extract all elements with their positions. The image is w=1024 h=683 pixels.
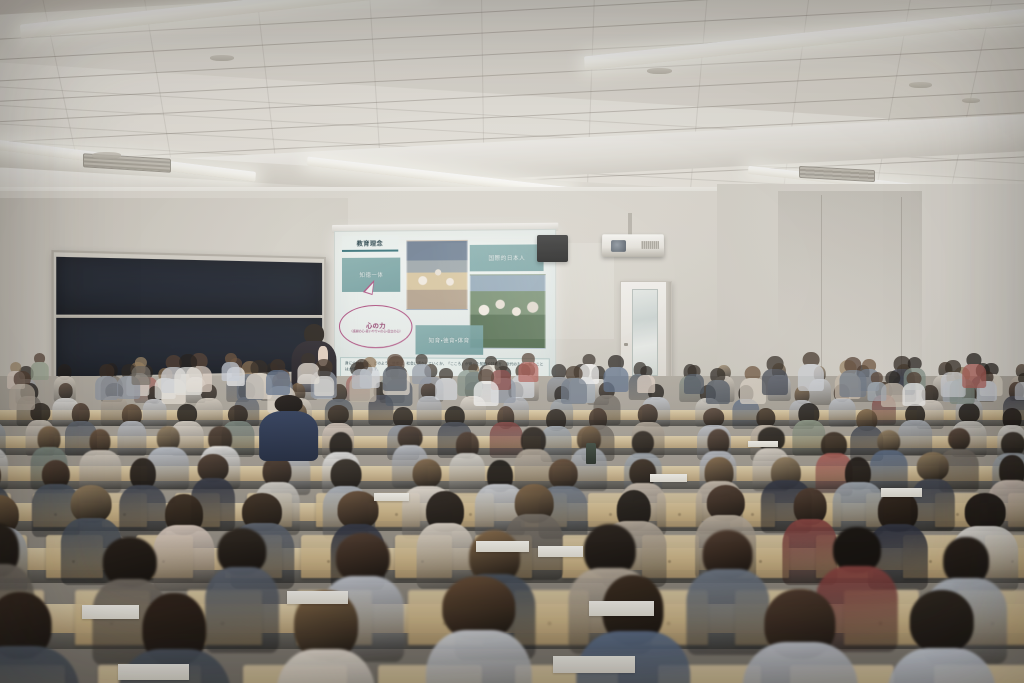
audience-member-far (964, 353, 985, 387)
handout-paper (538, 546, 583, 556)
audience-member-far (133, 357, 150, 384)
handout-paper (476, 541, 529, 552)
audience-body (839, 370, 866, 397)
door-open-edge (666, 282, 671, 387)
audience-member-far (563, 366, 586, 403)
audience-body (383, 366, 407, 390)
audience-body (868, 382, 887, 401)
audience-body (888, 648, 996, 683)
audience-body (174, 367, 201, 394)
audience-member-far (437, 368, 456, 399)
slide-box-kokusai: 国際的日本人 (470, 244, 544, 271)
audience-head (71, 485, 112, 523)
audience-member-far (1016, 373, 1024, 399)
audience-body (0, 646, 79, 683)
audience-body (762, 369, 788, 395)
audience-body (352, 369, 372, 389)
handout-paper (748, 441, 779, 448)
wall-speaker (537, 235, 569, 262)
speech-bubble-subtext: （感謝の心・思いやり\nの心・自立の心） (349, 329, 402, 333)
handout-paper (118, 664, 190, 680)
audience-member (430, 576, 528, 683)
ceiling-vent-5 (92, 152, 121, 159)
audience-member-far (315, 367, 332, 395)
audience-body (798, 364, 824, 390)
audience-member-far (31, 353, 48, 379)
slide-box-three-educations: 知育・徳育・体育 (415, 325, 483, 355)
audience-body (829, 398, 856, 427)
audience-body (474, 381, 499, 406)
audience-member-far (96, 364, 117, 398)
audience-member-far (904, 372, 925, 405)
handout-paper (374, 493, 409, 501)
lecture-hall-photo: 教育理念 知徳一体 国際的日本人 知育・徳育・体育 心の力 （感謝の心・思いやり… (0, 0, 1024, 683)
audience-head (910, 590, 975, 652)
audience-member (83, 429, 118, 489)
blackboard-panel-upper (56, 257, 322, 316)
audience-body (276, 649, 375, 683)
audience-head (917, 452, 949, 481)
handout-paper (287, 591, 348, 605)
handout-paper (650, 474, 687, 482)
audience-member-far (384, 354, 406, 389)
audience-body (706, 380, 730, 404)
projector-vent (641, 240, 660, 248)
audience-head (632, 431, 654, 454)
audience-body (9, 384, 35, 410)
audience-body (903, 383, 926, 406)
audience-body (561, 378, 587, 404)
audience-member-far (707, 368, 729, 403)
audience-member-far (942, 360, 964, 395)
audience-member-far (841, 357, 865, 396)
audience-body (962, 364, 986, 388)
slide-title-wrap: 教育理念 (342, 235, 398, 252)
water-bottle[interactable] (586, 443, 596, 465)
ceiling-projector (602, 234, 665, 256)
handout-paper (82, 605, 139, 619)
handout-paper (553, 656, 635, 674)
audience-member-far (475, 369, 497, 404)
audience-member-jersey (261, 398, 316, 459)
audience-body (684, 374, 704, 394)
audience-body (743, 642, 858, 683)
audience-member-far (520, 353, 537, 381)
slide-photo-classroom (406, 240, 468, 310)
door-handle[interactable] (624, 343, 628, 346)
ceiling-vent-2 (647, 68, 672, 74)
projector-lens (611, 240, 626, 251)
audience-member-far (413, 354, 431, 382)
audience-member-far (176, 354, 201, 393)
audience-member (0, 592, 70, 683)
audience-body (95, 376, 119, 400)
audience-body (637, 375, 655, 393)
audience-body (519, 362, 538, 381)
audience-head (328, 405, 348, 424)
audience-member-far (604, 355, 626, 391)
audience-body (412, 364, 432, 384)
audience-head (0, 460, 1, 490)
audience-member-far (799, 352, 822, 389)
audience-member-far (741, 366, 764, 403)
audience-body (30, 362, 48, 381)
jersey-back (259, 411, 319, 461)
projector-mount-pole (628, 213, 633, 236)
audience-head (330, 459, 361, 489)
audience-body (603, 367, 628, 392)
audience-member-far (764, 356, 787, 393)
audience-head (413, 459, 442, 488)
audience-body (1015, 382, 1024, 400)
audience-member-far (353, 359, 371, 388)
audience-body (221, 362, 240, 381)
audience-member-far (685, 365, 703, 394)
audience-body (425, 630, 531, 683)
audience-member-far (267, 359, 288, 393)
audience-body (118, 421, 147, 457)
audience-member-far (222, 353, 239, 380)
ceiling-vent-3 (909, 82, 932, 88)
speech-bubble: 心の力 （感謝の心・思いやり\nの心・自立の心） (339, 305, 413, 348)
audience-member (893, 590, 991, 683)
audience-member-far (869, 372, 886, 399)
slide-title: 教育理念 (342, 235, 398, 252)
audience-member (118, 404, 147, 454)
ceiling-vent-4 (962, 98, 980, 103)
audience-body (436, 378, 458, 400)
audience-body (417, 396, 442, 425)
audience-member (751, 589, 849, 683)
audience-head (948, 428, 970, 451)
wall-corner-line-2 (901, 197, 902, 375)
audience-body (132, 366, 151, 385)
handout-paper (589, 601, 655, 616)
handout-paper (881, 488, 922, 497)
audience-member-far (638, 366, 654, 391)
audience-body (266, 370, 290, 394)
audience-body (314, 376, 334, 396)
